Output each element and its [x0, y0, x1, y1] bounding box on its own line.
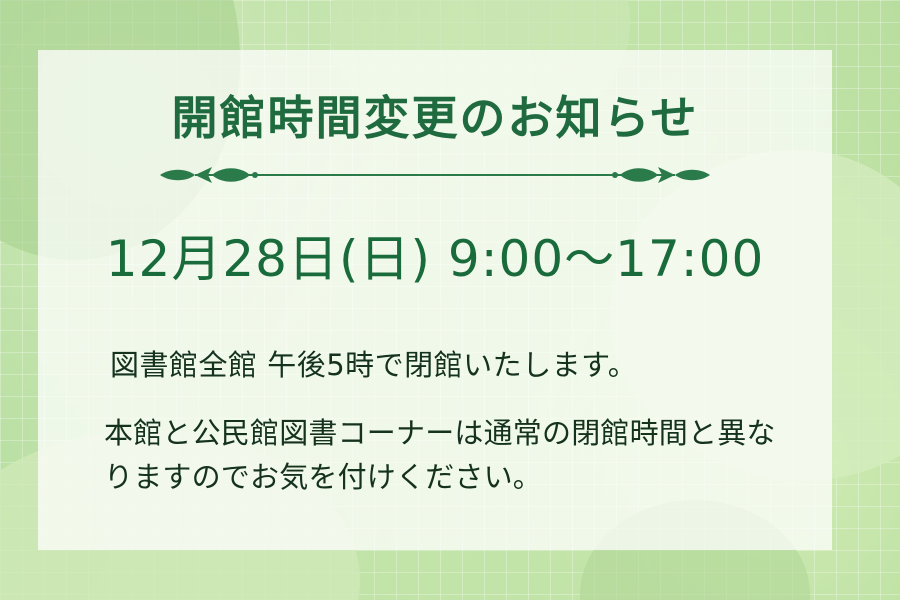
ornamental-divider-icon [100, 163, 770, 187]
notice-body-line-1: 図書館全館 午後5時で閉館いたします。 [38, 344, 832, 386]
page-title: 開館時間変更のお知らせ [38, 50, 832, 145]
notice-body-line-2: 本館と公民館図書コーナーは通常の閉館時間と異なりますのでお気を付けください。 [38, 386, 832, 499]
event-datetime: 12月28日(日) 9:00〜17:00 [38, 187, 832, 289]
poster-canvas: 開館時間変更のお知らせ 12月28日(日) 9:00〜17:00 図書館全館 午… [0, 0, 900, 600]
notice-body: 図書館全館 午後5時で閉館いたします。 本館と公民館図書コーナーは通常の閉館時間… [38, 288, 832, 499]
notice-card: 開館時間変更のお知らせ 12月28日(日) 9:00〜17:00 図書館全館 午… [38, 50, 832, 550]
